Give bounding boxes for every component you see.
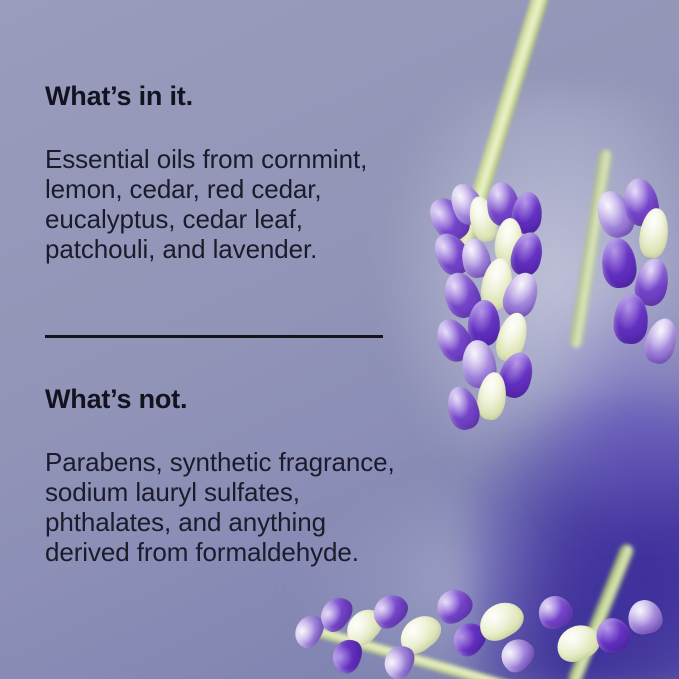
heading-whats-in-it: What’s in it. — [45, 82, 193, 112]
text-content: What’s in it. Essential oils from cornmi… — [0, 0, 679, 679]
product-ingredient-card: What’s in it. Essential oils from cornmi… — [0, 0, 679, 679]
ingredients-list-text: Essential oils from cornmint, lemon, ced… — [45, 144, 367, 264]
section-divider — [45, 335, 383, 338]
heading-whats-not: What’s not. — [45, 385, 187, 415]
excluded-ingredients-text: Parabens, synthetic fragrance, sodium la… — [45, 447, 395, 567]
